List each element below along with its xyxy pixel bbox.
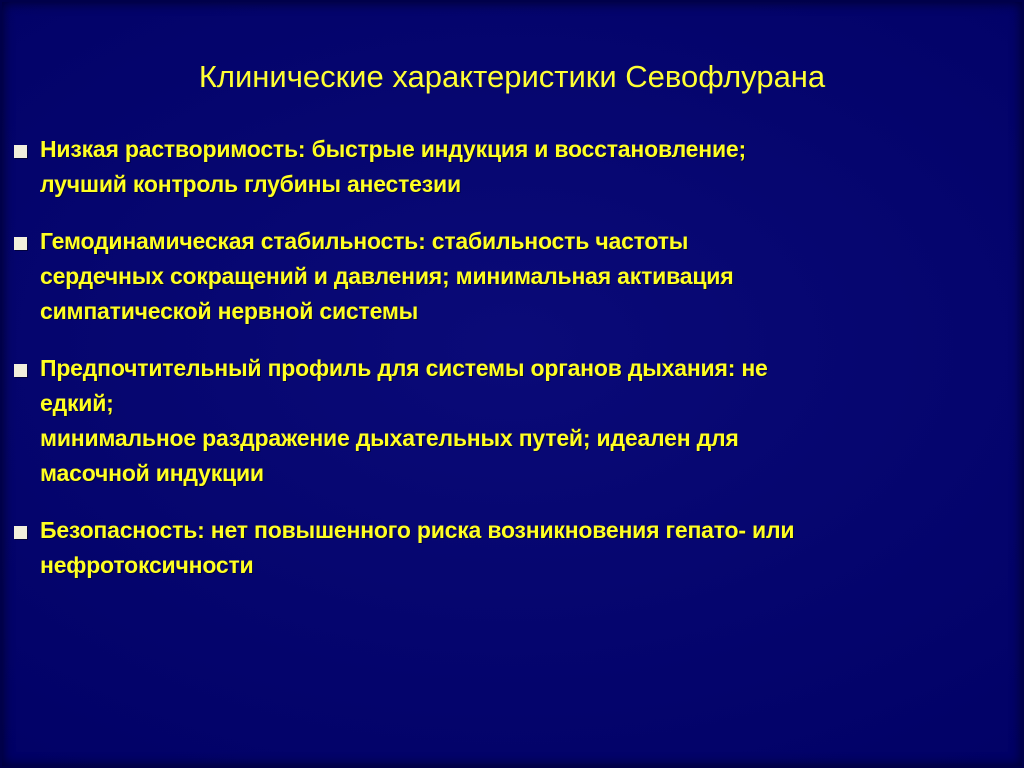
slide-content: Клинические характеристики Севофлурана Н… [0, 0, 1024, 768]
bullet-line: минимальное раздражение дыхательных путе… [40, 421, 994, 456]
bullet-line: масочной индукции [40, 456, 994, 491]
square-bullet-icon [14, 526, 27, 539]
square-bullet-icon [14, 145, 27, 158]
square-bullet-icon [14, 237, 27, 250]
bullet-line: Безопасность: нет повышенного риска возн… [40, 513, 994, 548]
bullet-item: Предпочтительный профиль для системы орг… [0, 351, 1024, 491]
bullet-line: нефротоксичности [40, 548, 994, 583]
bullet-line: Низкая растворимость: быстрые индукция и… [40, 132, 994, 167]
square-bullet-icon [14, 364, 27, 377]
bullet-line: симпатической нервной системы [40, 294, 994, 329]
bullet-list: Низкая растворимость: быстрые индукция и… [0, 132, 1024, 605]
bullet-item: Низкая растворимость: быстрые индукция и… [0, 132, 1024, 202]
bullet-item: Безопасность: нет повышенного риска возн… [0, 513, 1024, 583]
presentation-slide: Клинические характеристики Севофлурана Н… [0, 0, 1024, 768]
bullet-line: Гемодинамическая стабильность: стабильно… [40, 224, 994, 259]
bullet-line: Предпочтительный профиль для системы орг… [40, 351, 994, 386]
bullet-line: едкий; [40, 386, 994, 421]
bullet-line: лучший контроль глубины анестезии [40, 167, 994, 202]
bullet-item: Гемодинамическая стабильность: стабильно… [0, 224, 1024, 329]
bullet-line: сердечных сокращений и давления; минимал… [40, 259, 994, 294]
slide-title: Клинические характеристики Севофлурана [0, 58, 1024, 96]
